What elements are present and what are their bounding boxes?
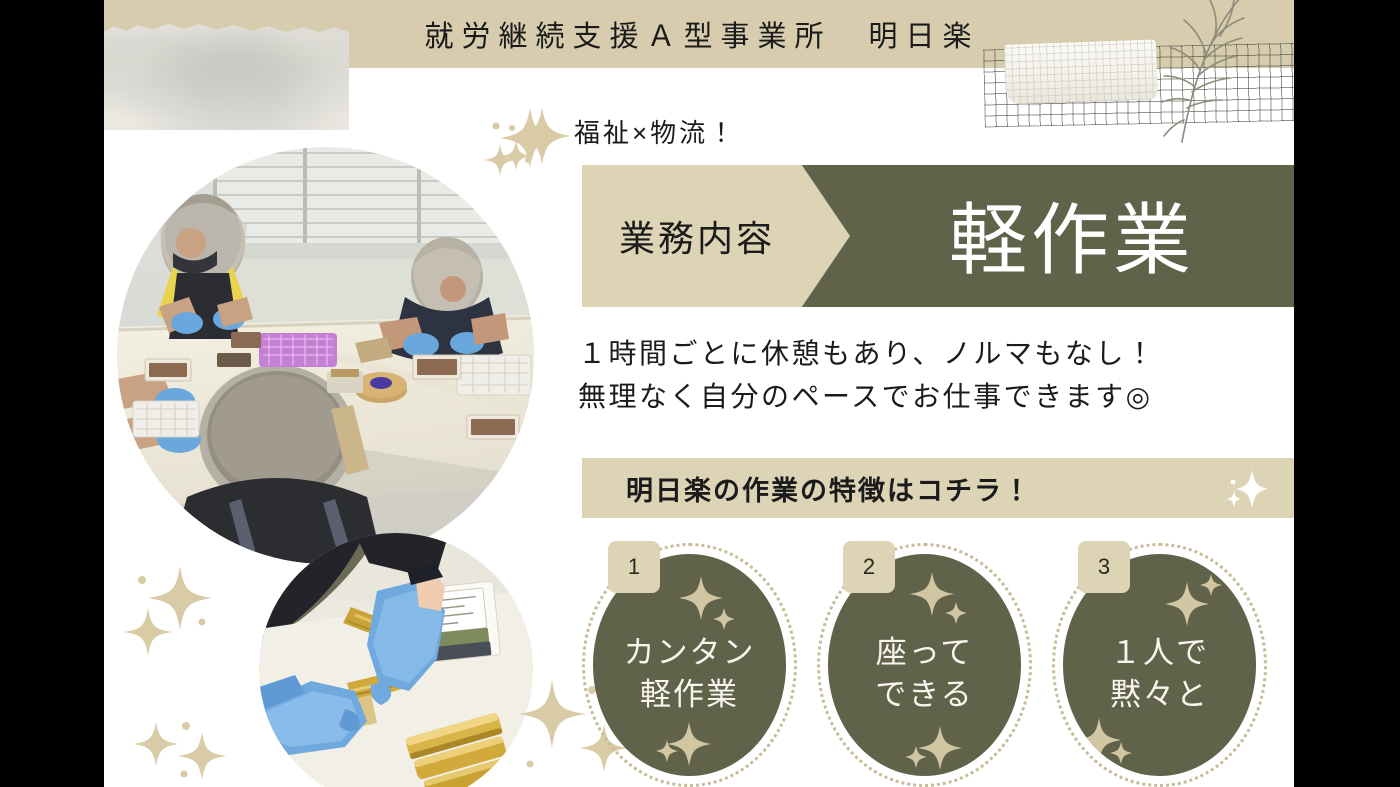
sparkle-icon xyxy=(118,550,238,660)
feature-line-2: 軽作業 xyxy=(640,674,739,716)
feature-line-1: 座って xyxy=(876,632,973,674)
feature-band-label: 明日楽の作業の特徴はコチラ！ xyxy=(626,458,1032,518)
feature-number-badge: 2 xyxy=(843,541,895,593)
sparkle-icon xyxy=(126,712,236,786)
dried-plant-sprig-icon xyxy=(1124,0,1264,150)
letterbox-left xyxy=(0,0,104,787)
feature-circle-2: 座って できる 2 xyxy=(817,543,1032,787)
feature-circle-3: １人で 黙々と 3 xyxy=(1052,543,1267,787)
description-line-2: 無理なく自分のペースでお仕事できます◎ xyxy=(578,375,1294,418)
screenshot-stage: 就労継続支援Ａ型事業所 明日楽 xyxy=(0,0,1400,787)
feature-line-2: 黙々と xyxy=(1110,674,1209,716)
feature-line-2: できる xyxy=(875,674,973,716)
feature-line-1: １人で xyxy=(1110,632,1209,674)
description-block: １時間ごとに休憩もあり、ノルマもなし！ 無理なく自分のペースでお仕事できます◎ xyxy=(578,332,1294,419)
poster-canvas: 就労継続支援Ａ型事業所 明日楽 xyxy=(104,0,1294,787)
workers-at-table-photo xyxy=(117,147,534,564)
sparkle-icon xyxy=(1226,468,1268,510)
feature-band: 明日楽の作業の特徴はコチラ！ xyxy=(582,458,1294,518)
feature-circle-1: カンタン 軽作業 1 xyxy=(582,543,797,787)
business-banner-right-label: 軽作業 xyxy=(850,165,1294,307)
business-content-banner: 業務内容 軽作業 xyxy=(582,165,1294,307)
tagline-text: 福祉×物流！ xyxy=(574,113,737,150)
gloved-hands-packing-photo xyxy=(259,533,533,787)
feature-number-badge: 1 xyxy=(608,541,660,593)
letterbox-right xyxy=(1294,0,1400,787)
business-banner-left-label: 業務内容 xyxy=(582,165,812,307)
sparkle-icon xyxy=(502,104,572,170)
feature-line-1: カンタン xyxy=(624,632,756,674)
feature-number-badge: 3 xyxy=(1078,541,1130,593)
feature-circles: カンタン 軽作業 1 xyxy=(582,543,1294,787)
description-line-1: １時間ごとに休憩もあり、ノルマもなし！ xyxy=(578,332,1294,375)
